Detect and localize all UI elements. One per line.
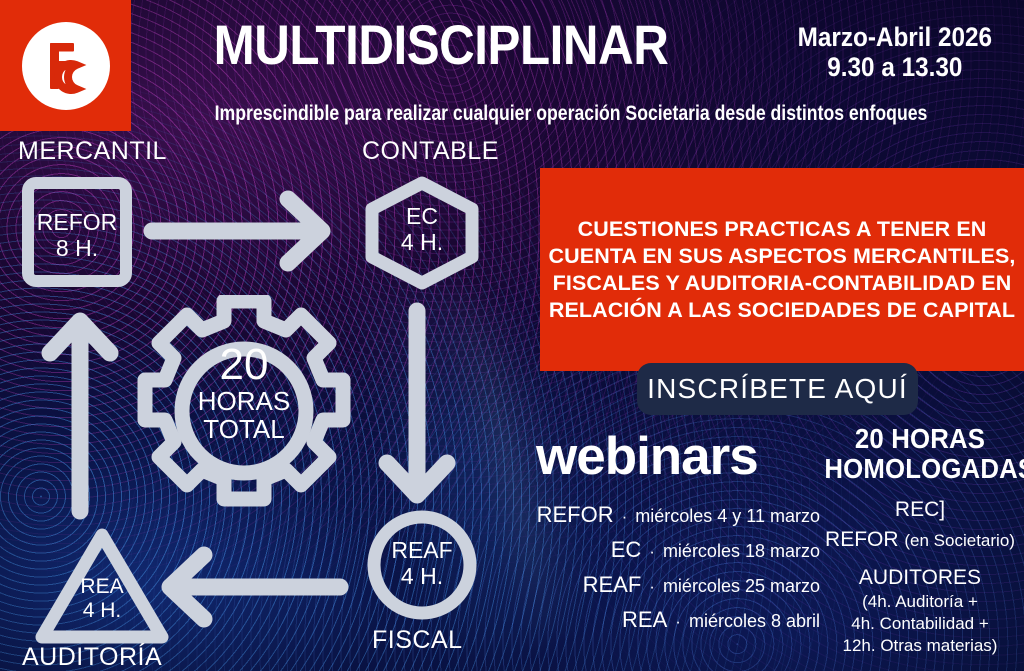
webinar-date: miércoles 4 y 11 marzo bbox=[635, 506, 820, 527]
node-code-mercantil: REFOR bbox=[22, 209, 132, 235]
node-value-mercantil: REFOR 8 H. bbox=[22, 209, 132, 261]
date-range: Marzo-Abril 2026 bbox=[798, 22, 992, 52]
accreditation-column: 20 HORAS HOMOLOGADAS REC] REFOR (en Soci… bbox=[816, 424, 1024, 657]
page-title: MULTIDISCIPLINAR bbox=[168, 16, 714, 74]
accreditation-detail-1: (4h. Auditoría + bbox=[816, 591, 1024, 613]
webinar-date: miércoles 18 marzo bbox=[663, 541, 820, 562]
total-hours-label-2: TOTAL bbox=[128, 415, 360, 443]
arrow-right-icon bbox=[152, 199, 322, 263]
webinar-poster: MULTIDISCIPLINAR Marzo-Abril 2026 9.30 a… bbox=[0, 0, 1024, 671]
node-hours-mercantil: 8 H. bbox=[22, 235, 132, 261]
accreditation-auditores: AUDITORES bbox=[816, 565, 1024, 591]
time-range: 9.30 a 13.30 bbox=[798, 52, 992, 82]
accreditation-rec: REC] bbox=[816, 496, 1024, 524]
brand-logo bbox=[0, 0, 131, 131]
list-item: REAF · miércoles 25 marzo bbox=[500, 572, 820, 598]
accreditation-title-line-2: HOMOLOGADAS bbox=[824, 454, 1015, 484]
webinars-list: REFOR · miércoles 4 y 11 marzo EC · miér… bbox=[500, 502, 820, 642]
register-button[interactable]: INSCRÍBETE AQUÍ bbox=[637, 363, 918, 415]
accreditation-detail-3: 12h. Otras materias) bbox=[816, 635, 1024, 657]
accreditation-refor-note: (en Societario) bbox=[904, 531, 1015, 550]
webinar-date: miércoles 8 abril bbox=[689, 611, 820, 632]
list-item: REA · miércoles 8 abril bbox=[500, 607, 820, 633]
webinar-code: REAF bbox=[583, 572, 642, 598]
node-code-contable: EC bbox=[362, 203, 482, 229]
page-subtitle: Imprescindible para realizar cualquier o… bbox=[201, 102, 940, 125]
webinar-separator: · bbox=[649, 542, 655, 562]
webinar-code: REA bbox=[622, 607, 667, 633]
node-code-fiscal: REAF bbox=[366, 537, 478, 563]
node-label-contable: CONTABLE bbox=[362, 137, 499, 166]
total-hours-label-1: HORAS bbox=[128, 387, 360, 415]
register-button-label: INSCRÍBETE AQUÍ bbox=[647, 373, 908, 405]
webinar-code: EC bbox=[611, 537, 642, 563]
node-label-mercantil: MERCANTIL bbox=[18, 137, 167, 166]
arrow-down-icon bbox=[387, 311, 447, 495]
list-item: EC · miércoles 18 marzo bbox=[500, 537, 820, 563]
node-value-auditoria: REA 4 H. bbox=[32, 575, 172, 623]
node-hours-fiscal: 4 H. bbox=[366, 563, 478, 589]
webinar-date: miércoles 25 marzo bbox=[663, 576, 820, 597]
date-block: Marzo-Abril 2026 9.30 a 13.30 bbox=[798, 22, 992, 82]
webinar-code: REFOR bbox=[537, 502, 614, 528]
accreditation-refor-label: REFOR bbox=[825, 528, 899, 551]
accreditation-refor: REFOR (en Societario) bbox=[816, 526, 1024, 555]
arrow-left-icon bbox=[170, 555, 340, 619]
arrow-up-icon bbox=[50, 321, 110, 511]
webinars-heading: webinars bbox=[536, 430, 758, 483]
node-code-auditoria: REA bbox=[32, 575, 172, 599]
accreditation-detail-2: 4h. Contabilidad + bbox=[816, 613, 1024, 635]
process-diagram: MERCANTIL REFOR 8 H. CONTABLE EC 4 H. RE… bbox=[0, 131, 530, 671]
webinar-separator: · bbox=[675, 612, 681, 632]
list-item: REFOR · miércoles 4 y 11 marzo bbox=[500, 502, 820, 528]
poster-header: MULTIDISCIPLINAR Marzo-Abril 2026 9.30 a… bbox=[0, 0, 1024, 131]
node-hours-contable: 4 H. bbox=[362, 229, 482, 255]
gear-center-text: 20 HORAS TOTAL bbox=[128, 343, 360, 443]
total-hours-number: 20 bbox=[128, 343, 360, 387]
webinar-separator: · bbox=[649, 577, 655, 597]
node-label-auditoria: AUDITORÍA bbox=[22, 643, 162, 671]
course-description-text: CUESTIONES PRACTICAS A TENER EN CUENTA E… bbox=[540, 216, 1024, 324]
webinar-separator: · bbox=[622, 507, 628, 527]
node-hours-auditoria: 4 H. bbox=[32, 599, 172, 623]
node-value-fiscal: REAF 4 H. bbox=[366, 537, 478, 589]
course-description-box: CUESTIONES PRACTICAS A TENER EN CUENTA E… bbox=[540, 168, 1024, 371]
node-label-fiscal: FISCAL bbox=[372, 626, 463, 655]
accreditation-title-line-1: 20 HORAS bbox=[824, 424, 1015, 454]
ec-monogram-logo-icon bbox=[22, 22, 110, 110]
node-value-contable: EC 4 H. bbox=[362, 203, 482, 255]
